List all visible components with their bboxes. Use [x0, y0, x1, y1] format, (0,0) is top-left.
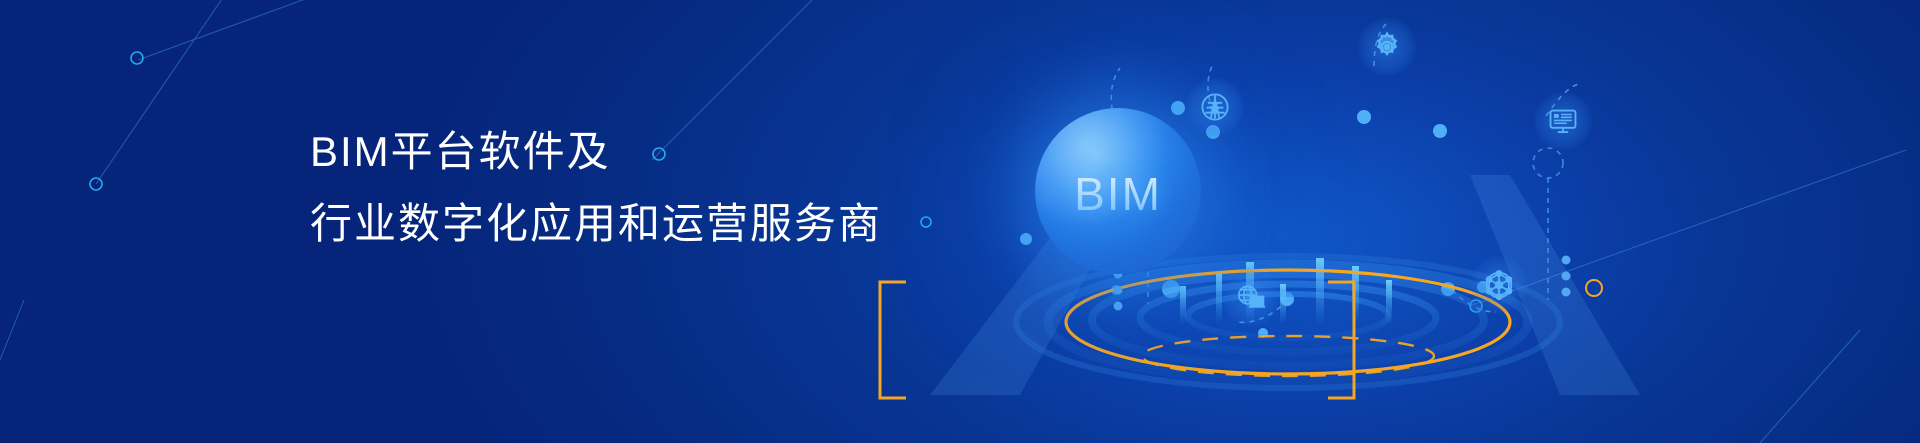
- power-tower-icon[interactable]: [1186, 78, 1244, 136]
- headline: BIM平台软件及 行业数字化应用和运营服务商: [310, 116, 882, 260]
- bim-label: BIM: [1035, 167, 1201, 221]
- network-node-icon[interactable]: [1470, 256, 1528, 314]
- headline-line-1: BIM平台软件及: [310, 116, 882, 188]
- background-glow: [0, 0, 1920, 443]
- bim-sphere: BIM: [1035, 108, 1201, 274]
- hero-banner: BIM平台软件及 行业数字化应用和运营服务商: [0, 0, 1920, 443]
- monitor-icon[interactable]: [1534, 92, 1592, 150]
- headline-line-2: 行业数字化应用和运营服务商: [310, 188, 882, 260]
- globe-laptop-icon[interactable]: [1222, 268, 1280, 326]
- gear-icon[interactable]: [1358, 18, 1416, 76]
